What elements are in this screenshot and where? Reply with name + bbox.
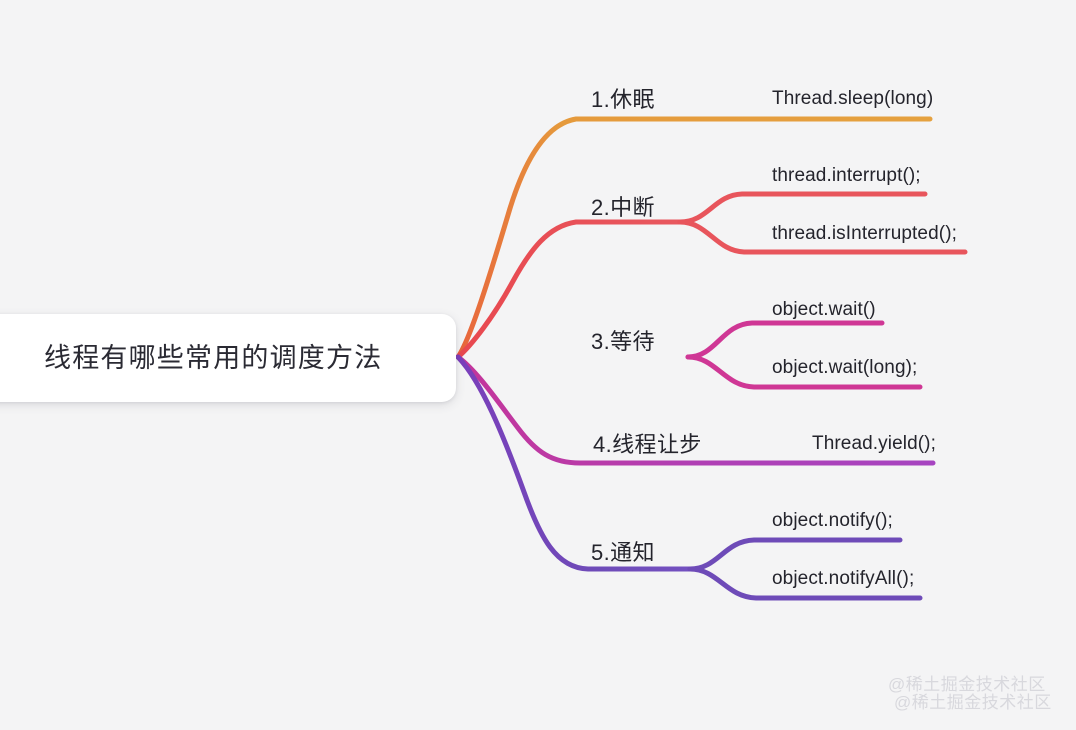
branch-line-2-leaf-1 [680, 194, 925, 222]
branch-label-4[interactable]: 4.线程让步 [593, 434, 702, 456]
watermark-line-1: @稀土掘金技术社区 [888, 670, 1046, 695]
leaf-label-yield[interactable]: Thread.yield(); [812, 434, 936, 453]
leaf-label-interrupt[interactable]: thread.interrupt(); [772, 166, 921, 185]
branch-line-5-leaf-1 [690, 540, 900, 569]
watermark: @稀土掘金技术社区 @稀土掘金技术社区 [884, 668, 1064, 720]
branch-label-5[interactable]: 5.通知 [591, 542, 655, 564]
leaf-label-notify[interactable]: object.notify(); [772, 511, 893, 530]
leaf-label-is-interrupted[interactable]: thread.isInterrupted(); [772, 224, 957, 243]
leaf-label-wait-long[interactable]: object.wait(long); [772, 358, 917, 377]
leaf-label-wait[interactable]: object.wait() [772, 300, 876, 319]
branch-label-2[interactable]: 2.中断 [591, 197, 655, 219]
leaf-label-sleep[interactable]: Thread.sleep(long) [772, 89, 933, 108]
watermark-line-2: @稀土掘金技术社区 [894, 688, 1052, 713]
branch-line-3-leaf-1 [688, 323, 882, 357]
root-node[interactable]: 线程有哪些常用的调度方法 [0, 314, 456, 402]
branch-label-1[interactable]: 1.休眠 [591, 89, 655, 111]
branch-label-3[interactable]: 3.等待 [591, 331, 655, 353]
branch-line-5-trunk [458, 357, 690, 569]
mindmap-canvas: 线程有哪些常用的调度方法 1.休眠 2.中断 3.等待 4.线程让步 5.通知 … [0, 0, 1076, 730]
root-node-label: 线程有哪些常用的调度方法 [44, 345, 382, 372]
leaf-label-notify-all[interactable]: object.notifyAll(); [772, 569, 914, 588]
